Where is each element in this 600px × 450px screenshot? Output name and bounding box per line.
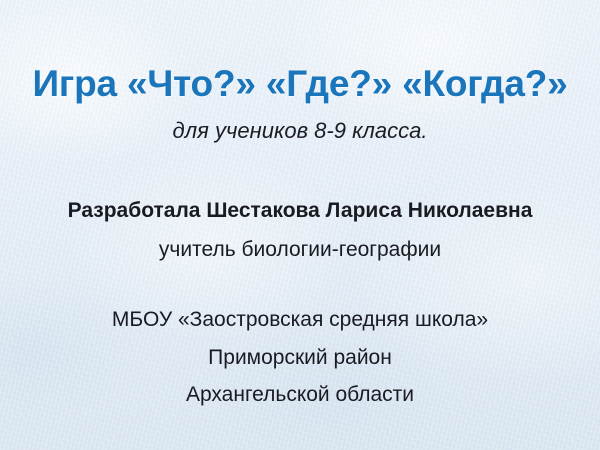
organization-region-line: Архангельской области	[0, 381, 600, 409]
slide-subtitle: для учеников 8-9 класса.	[0, 117, 600, 145]
organization-name-line: МБОУ «Заостровская средняя школа»	[0, 306, 600, 334]
organization-district-line: Приморский район	[0, 344, 600, 372]
presentation-title-slide: Игра «Что?» «Где?» «Когда?» для учеников…	[0, 0, 600, 450]
author-role-line: учитель биологии-географии	[0, 236, 600, 264]
slide-content: Игра «Что?» «Где?» «Когда?» для учеников…	[0, 0, 600, 450]
slide-title: Игра «Что?» «Где?» «Когда?»	[0, 62, 600, 106]
author-name-line: Разработала Шестакова Лариса Николаевна	[0, 197, 600, 225]
